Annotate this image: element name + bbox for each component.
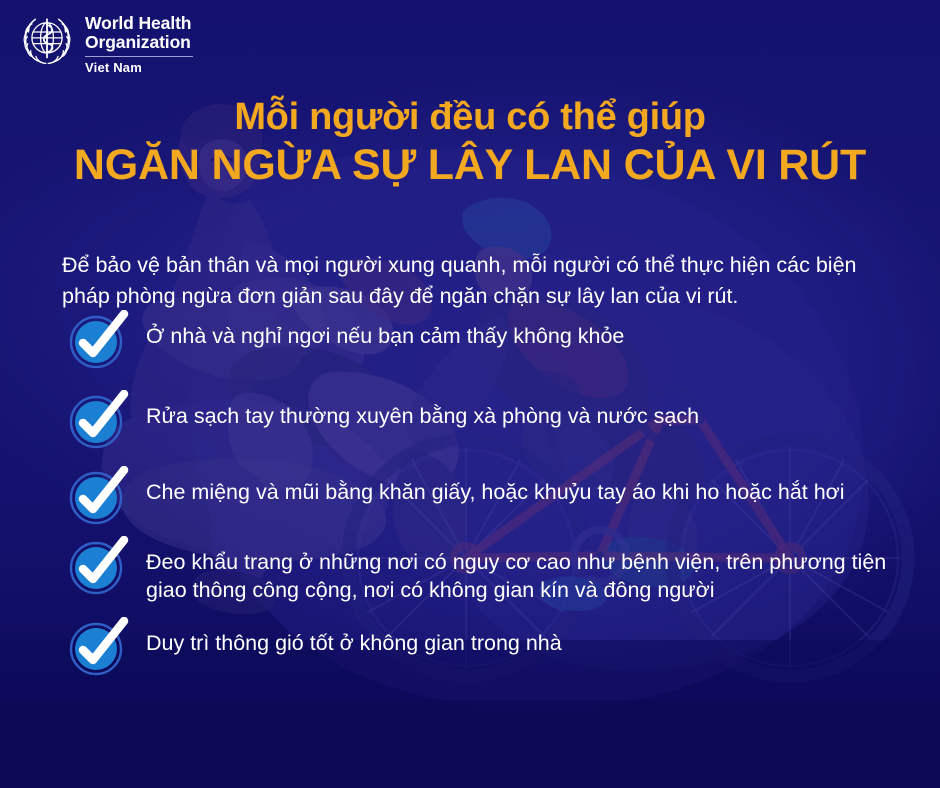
logo-line-2: Organization bbox=[85, 33, 193, 52]
list-item-label: Rửa sạch tay thường xuyên bằng xà phòng … bbox=[146, 396, 699, 430]
list-item-label: Che miệng và mũi bằng khăn giấy, hoặc kh… bbox=[146, 472, 845, 506]
list-item: Che miệng và mũi bằng khăn giấy, hoặc kh… bbox=[62, 472, 912, 526]
check-circle-icon bbox=[68, 536, 130, 596]
logo-country: Viet Nam bbox=[85, 60, 193, 75]
list-item: Ở nhà và nghỉ ngơi nếu bạn cảm thấy khôn… bbox=[62, 316, 912, 370]
list-item: Duy trì thông gió tốt ở không gian trong… bbox=[62, 623, 912, 677]
logo-divider bbox=[85, 56, 193, 57]
prevention-checklist: Ở nhà và nghỉ ngơi nếu bạn cảm thấy khôn… bbox=[62, 316, 912, 677]
headline-line-1: Mỗi người đều có thể giúp bbox=[0, 96, 940, 139]
headline: Mỗi người đều có thể giúp NGĂN NGỪA SỰ L… bbox=[0, 96, 940, 189]
list-item-label: Duy trì thông gió tốt ở không gian trong… bbox=[146, 623, 562, 657]
list-item-label: Đeo khẩu trang ở những nơi có nguy cơ ca… bbox=[146, 542, 906, 605]
check-circle-icon bbox=[68, 310, 130, 370]
check-circle-icon bbox=[68, 466, 130, 526]
intro-paragraph: Để bảo vệ bản thân và mọi người xung qua… bbox=[62, 250, 882, 312]
who-emblem-icon bbox=[18, 10, 76, 70]
list-item: Rửa sạch tay thường xuyên bằng xà phòng … bbox=[62, 396, 912, 450]
who-logo: World Health Organization Viet Nam bbox=[18, 10, 193, 75]
list-item-label: Ở nhà và nghỉ ngơi nếu bạn cảm thấy khôn… bbox=[146, 316, 624, 350]
check-circle-icon bbox=[68, 390, 130, 450]
poster: World Health Organization Viet Nam Mỗi n… bbox=[0, 0, 940, 788]
headline-line-2: NGĂN NGỪA SỰ LÂY LAN CỦA VI RÚT bbox=[0, 141, 940, 189]
list-item: Đeo khẩu trang ở những nơi có nguy cơ ca… bbox=[62, 542, 912, 605]
check-circle-icon bbox=[68, 617, 130, 677]
logo-line-1: World Health bbox=[85, 14, 193, 33]
